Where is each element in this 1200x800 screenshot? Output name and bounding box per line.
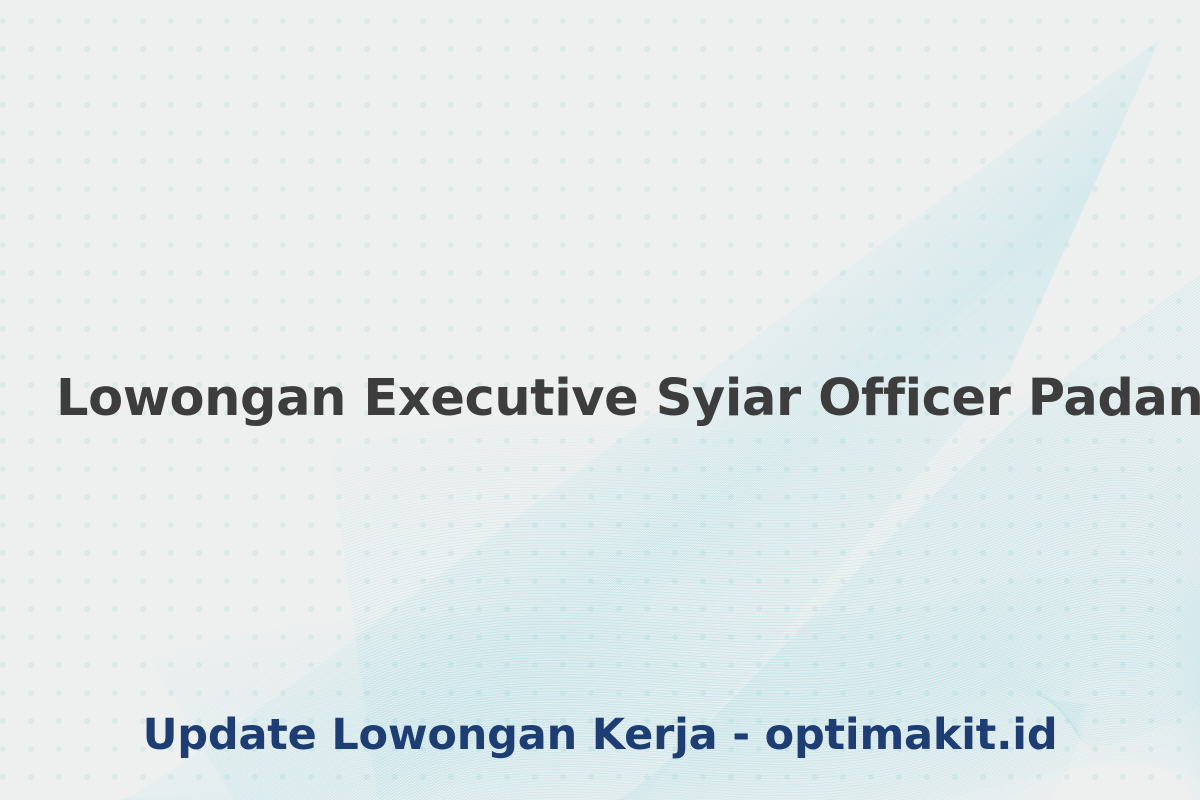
site-branding-subtitle: Update Lowongan Kerja - optimakit.id bbox=[40, 712, 1160, 759]
subtitle-block: Update Lowongan Kerja - optimakit.id bbox=[0, 712, 1200, 759]
job-vacancy-banner: Lowongan Executive Syiar Officer Padang … bbox=[0, 0, 1200, 800]
page-title: Lowongan Executive Syiar Officer Padang bbox=[56, 370, 1144, 427]
title-block: Lowongan Executive Syiar Officer Padang bbox=[0, 370, 1200, 427]
